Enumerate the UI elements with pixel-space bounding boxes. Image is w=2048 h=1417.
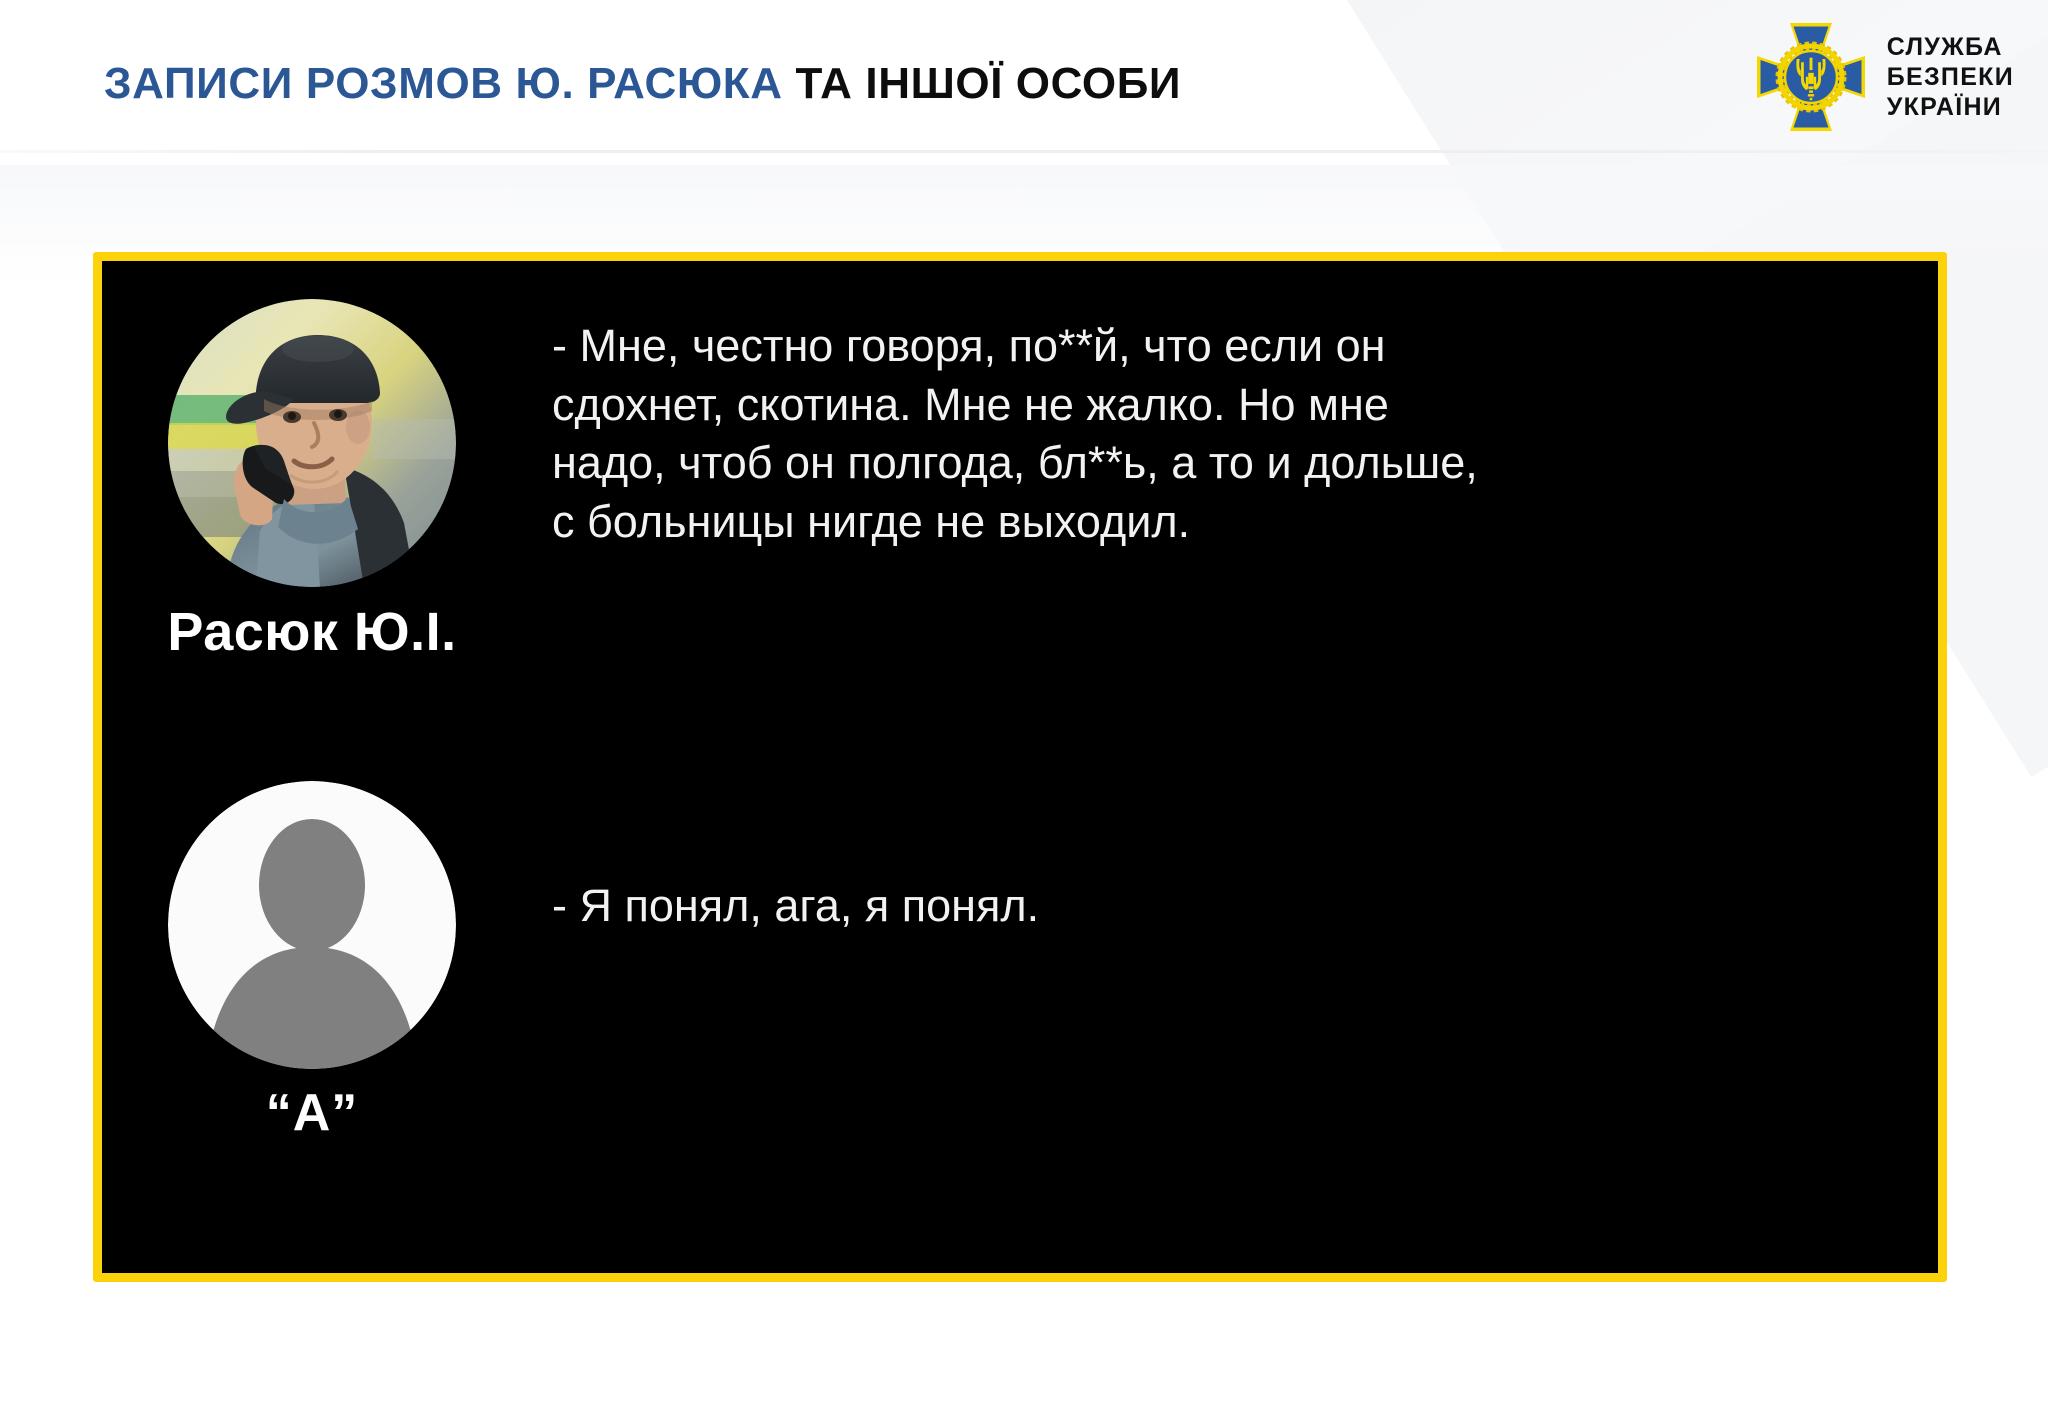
speech-bubble-rasyuk: - Мне, честно говоря, по**й, что если он… [522,299,1842,551]
speech-line: - Я понял, ага, я понял. [552,877,1842,936]
speech-line: с больницы нигде не выходил. [552,493,1842,552]
sbu-emblem-icon [1751,17,1871,137]
transcript-row: Расюк Ю.І. - Мне, честно говоря, по**й, … [102,299,1938,659]
sbu-wordmark-line-1: СЛУЖБА [1887,34,2014,61]
speaker-name-anonymous: “А” [266,1087,359,1139]
slide-canvas: ЗАПИСИ РОЗМОВ Ю. РАСЮКА ТА ІНШОЇ ОСОБИ [0,0,2048,1417]
transcript-row: “А” - Я понял, ага, я понял. [102,781,1938,1139]
speech-line: сдохнет, скотина. Мне не жалко. Но мне [552,376,1842,435]
sbu-wordmark-line-3: УКРАЇНИ [1887,94,2014,121]
sbu-logo: СЛУЖБА БЕЗПЕКИ УКРАЇНИ [1751,16,2014,138]
avatar-silhouette-anonymous [168,781,456,1069]
page-title-rest: ТА ІНШОЇ ОСОБИ [783,59,1182,108]
speech-line: - Мне, честно говоря, по**й, что если он [552,317,1842,376]
speaker-name-rasyuk: Расюк Ю.І. [167,605,456,659]
speaker-block-rasyuk: Расюк Ю.І. [102,299,522,659]
evidence-panel-inner: Расюк Ю.І. - Мне, честно говоря, по**й, … [102,261,1938,1273]
sbu-wordmark-line-2: БЕЗПЕКИ [1887,64,2014,91]
speech-bubble-anonymous: - Я понял, ага, я понял. [522,781,1842,936]
page-title-highlight: ЗАПИСИ РОЗМОВ Ю. РАСЮКА [104,59,783,108]
speech-line: надо, чтоб он полгода, бл**ь, а то и дол… [552,434,1842,493]
page-title: ЗАПИСИ РОЗМОВ Ю. РАСЮКА ТА ІНШОЇ ОСОБИ [104,62,1181,106]
evidence-panel: Расюк Ю.І. - Мне, честно говоря, по**й, … [93,252,1947,1282]
speaker-block-anonymous: “А” [102,781,522,1139]
slide-header: ЗАПИСИ РОЗМОВ Ю. РАСЮКА ТА ІНШОЇ ОСОБИ [0,0,2048,170]
avatar-photo-rasyuk [168,299,456,587]
sbu-wordmark: СЛУЖБА БЕЗПЕКИ УКРАЇНИ [1887,34,2014,121]
